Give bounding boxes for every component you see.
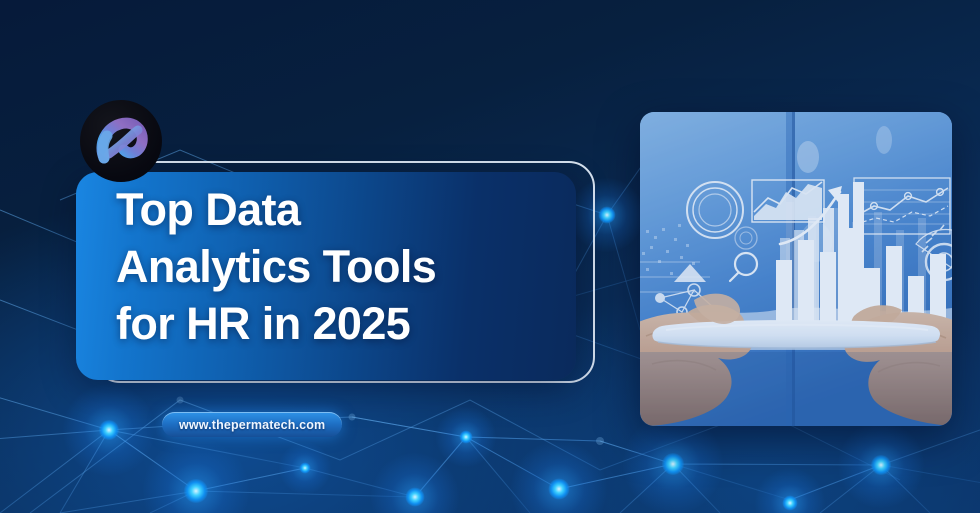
title-line-1: Top Data (116, 181, 636, 238)
brand-logo[interactable] (80, 100, 162, 182)
marketing-banner: Top Data Analytics Tools for HR in 2025 … (0, 0, 980, 513)
page-title: Top Data Analytics Tools for HR in 2025 (116, 181, 636, 352)
title-line-3: for HR in 2025 (116, 295, 636, 352)
analytics-photo-illustration (640, 112, 952, 426)
hero-image (640, 112, 952, 426)
website-url-label: www.thepermatech.com (179, 418, 325, 432)
logo-arc-icon (80, 100, 162, 182)
title-line-2: Analytics Tools (116, 238, 636, 295)
website-url-badge[interactable]: www.thepermatech.com (162, 412, 342, 437)
